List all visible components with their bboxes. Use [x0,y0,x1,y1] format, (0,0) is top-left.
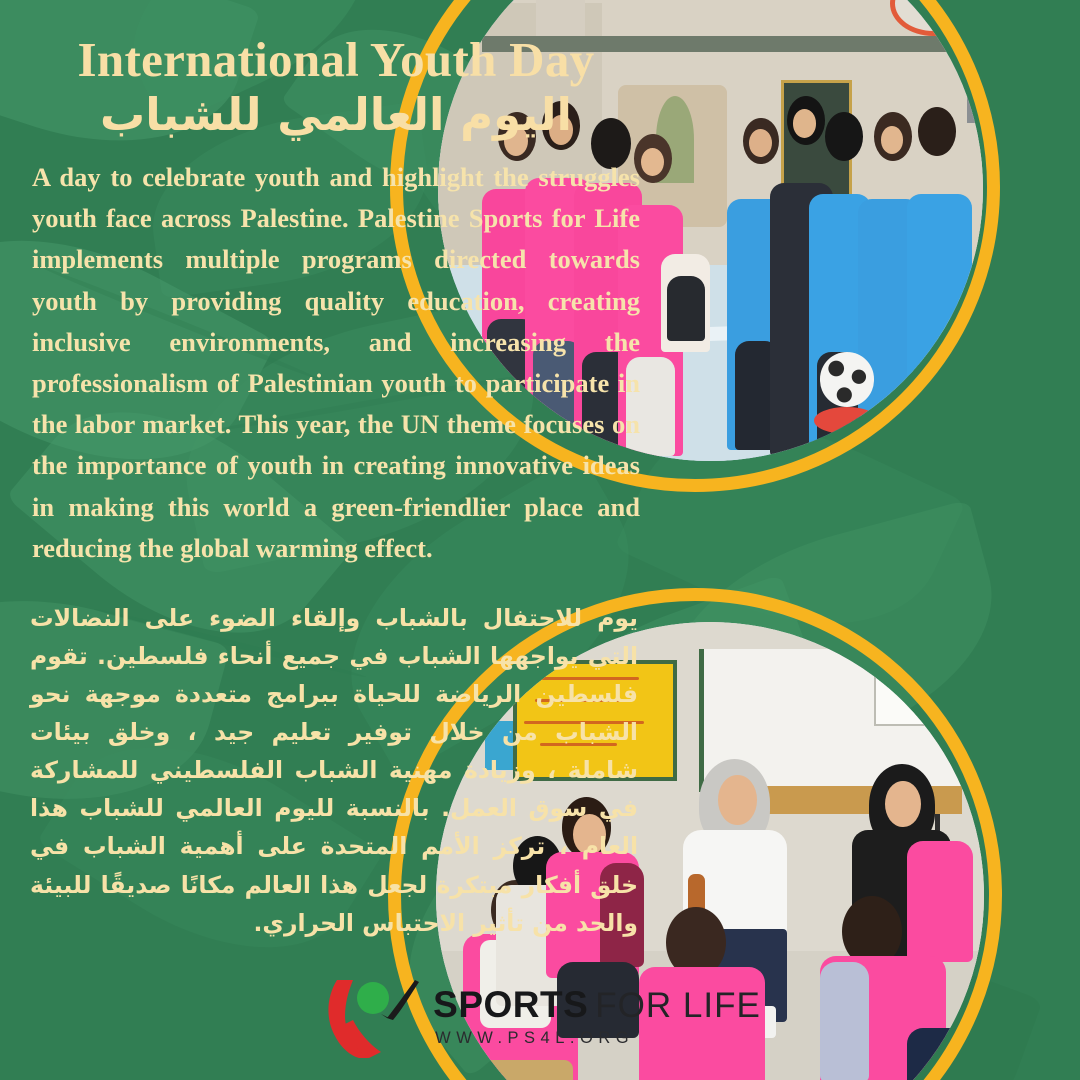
body-text-english: A day to celebrate youth and highlight t… [32,157,640,569]
logo-mark-icon [319,974,423,1058]
logo-name-light: FOR LIFE [595,988,761,1023]
logo-name-bold: SPORTS [433,986,588,1023]
body-text-arabic: يوم للاحتفال بالشباب وإلقاء الضوء على ال… [30,599,638,942]
logo-website-url[interactable]: WWW.PS4L.ORG [435,1030,761,1047]
page-title-english: International Youth Day [26,34,646,86]
content-column: International Youth Day اليوم العالمي لل… [0,0,672,1080]
page-title-arabic: اليوم العالمي للشباب [26,88,646,141]
organization-logo[interactable]: SPORTS FOR LIFE WWW.PS4L.ORG [0,974,1080,1058]
logo-wordmark: SPORTS FOR LIFE WWW.PS4L.ORG [433,986,761,1047]
poster-canvas: International Youth Day اليوم العالمي لل… [0,0,1080,1080]
